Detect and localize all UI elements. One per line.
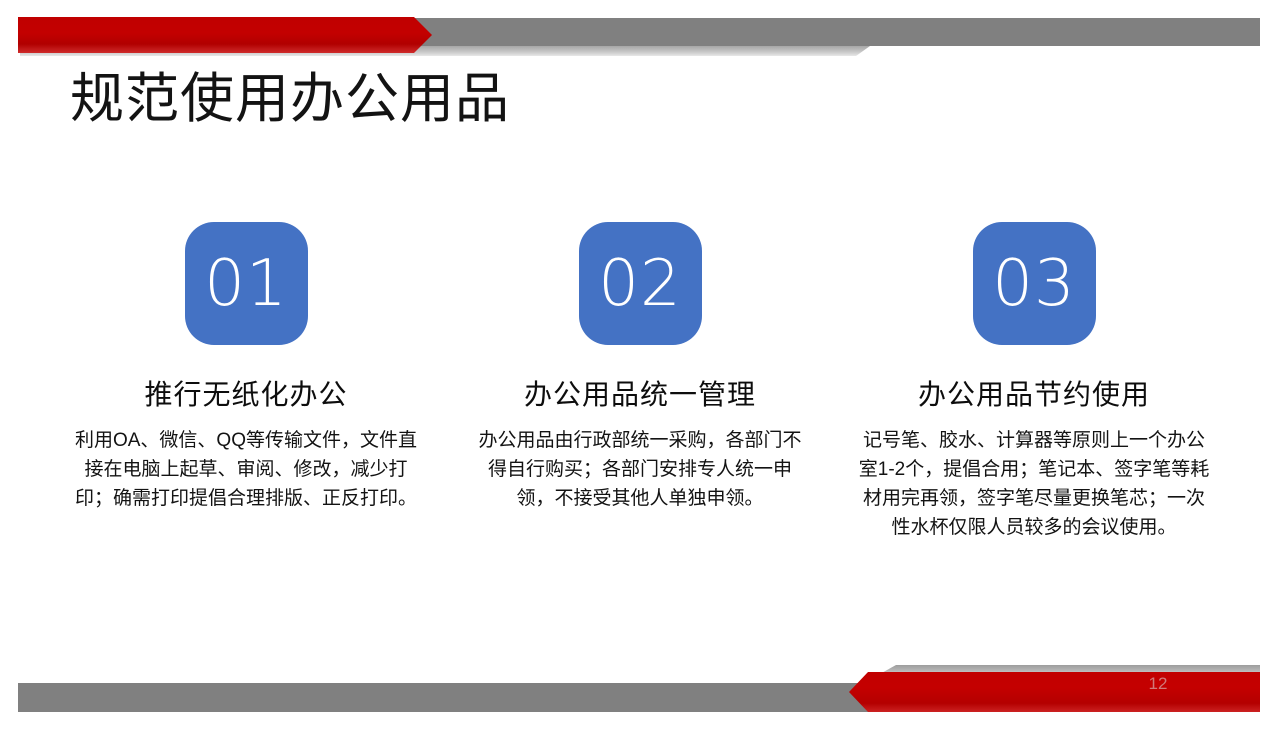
- content-columns: 01 推行无纸化办公 利用OA、微信、QQ等传输文件，文件直接在电脑上起草、审阅…: [60, 222, 1220, 543]
- footer-gray-bar: [18, 683, 874, 712]
- header-gray-bar: [338, 18, 1260, 46]
- content-column-2: 02 办公用品统一管理 办公用品由行政部统一采购，各部门不得自行购买；各部门安排…: [454, 222, 826, 543]
- number-badge-label: 02: [598, 252, 681, 316]
- footer-red-chevron: [849, 672, 1260, 712]
- number-badge-label: 03: [992, 252, 1075, 316]
- column-heading-1: 推行无纸化办公: [144, 373, 347, 413]
- number-badge-02: 02: [579, 222, 702, 345]
- slide-canvas: 规范使用办公用品 01 推行无纸化办公 利用OA、微信、QQ等传输文件，文件直接…: [0, 0, 1278, 735]
- column-heading-2: 办公用品统一管理: [524, 373, 756, 413]
- footer-banner: [0, 655, 1278, 735]
- content-column-1: 01 推行无纸化办公 利用OA、微信、QQ等传输文件，文件直接在电脑上起草、审阅…: [60, 222, 432, 543]
- header-red-chevron: [18, 17, 432, 53]
- column-heading-3: 办公用品节约使用: [918, 373, 1150, 413]
- page-title: 规范使用办公用品: [70, 68, 510, 130]
- content-column-3: 03 办公用品节约使用 记号笔、胶水、计算器等原则上一个办公室1-2个，提倡合用…: [848, 222, 1220, 543]
- column-body-1: 利用OA、微信、QQ等传输文件，文件直接在电脑上起草、审阅、修改，减少打印；确需…: [74, 427, 419, 514]
- column-body-3: 记号笔、胶水、计算器等原则上一个办公室1-2个，提倡合用；笔记本、签字笔等耗材用…: [858, 427, 1210, 543]
- number-badge-03: 03: [973, 222, 1096, 345]
- number-badge-label: 01: [204, 252, 287, 316]
- column-body-2: 办公用品由行政部统一采购，各部门不得自行购买；各部门安排专人统一申领，不接受其他…: [470, 427, 810, 514]
- number-badge-01: 01: [185, 222, 308, 345]
- page-number: 12: [1138, 674, 1178, 694]
